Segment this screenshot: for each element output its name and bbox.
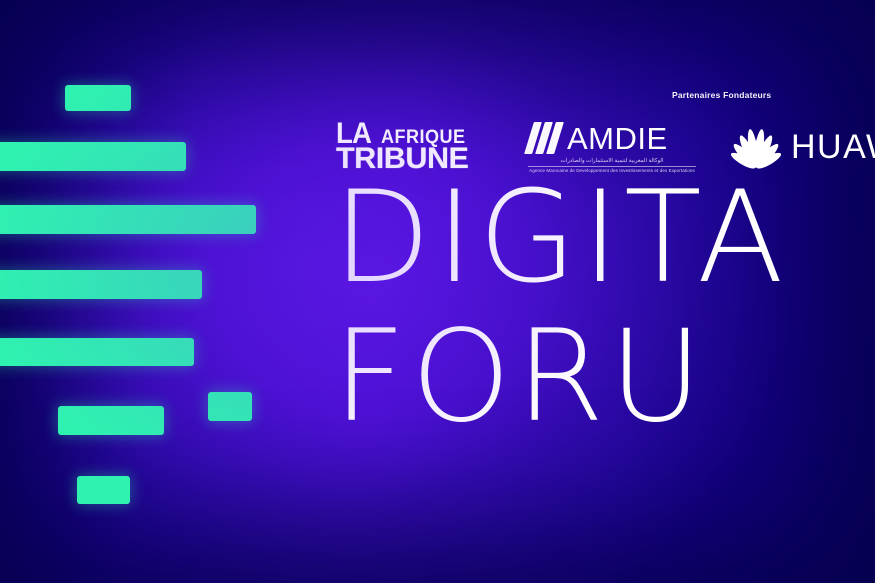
equalizer-bar: [0, 338, 194, 366]
equalizer-bar: [0, 270, 202, 299]
huawei-wordmark: HUAW: [791, 130, 875, 164]
amdie-slashes-icon: [528, 122, 562, 154]
digital-forum-banner: Partenaires Fondateurs LA AFRIQUE TRIBUN…: [0, 0, 875, 583]
equalizer-bar: [0, 205, 256, 234]
equalizer-bar: [208, 392, 252, 421]
amdie-main-lockup: AMDIE: [528, 122, 696, 154]
equalizer-bar: [77, 476, 130, 504]
headline-line-1: DIGITA: [333, 163, 789, 311]
amdie-wordmark: AMDIE: [567, 123, 668, 154]
partner-logo-row: LA AFRIQUE TRIBUNE AMDIE الوكالة المغربي…: [336, 85, 875, 175]
equalizer-bar: [0, 142, 186, 171]
equalizer-bar: [65, 85, 131, 111]
headline-line-2: FORU: [333, 315, 789, 438]
page-title: DIGITA FORU: [333, 176, 789, 438]
equalizer-bars-graphic: [0, 0, 300, 583]
equalizer-bar: [58, 406, 164, 435]
